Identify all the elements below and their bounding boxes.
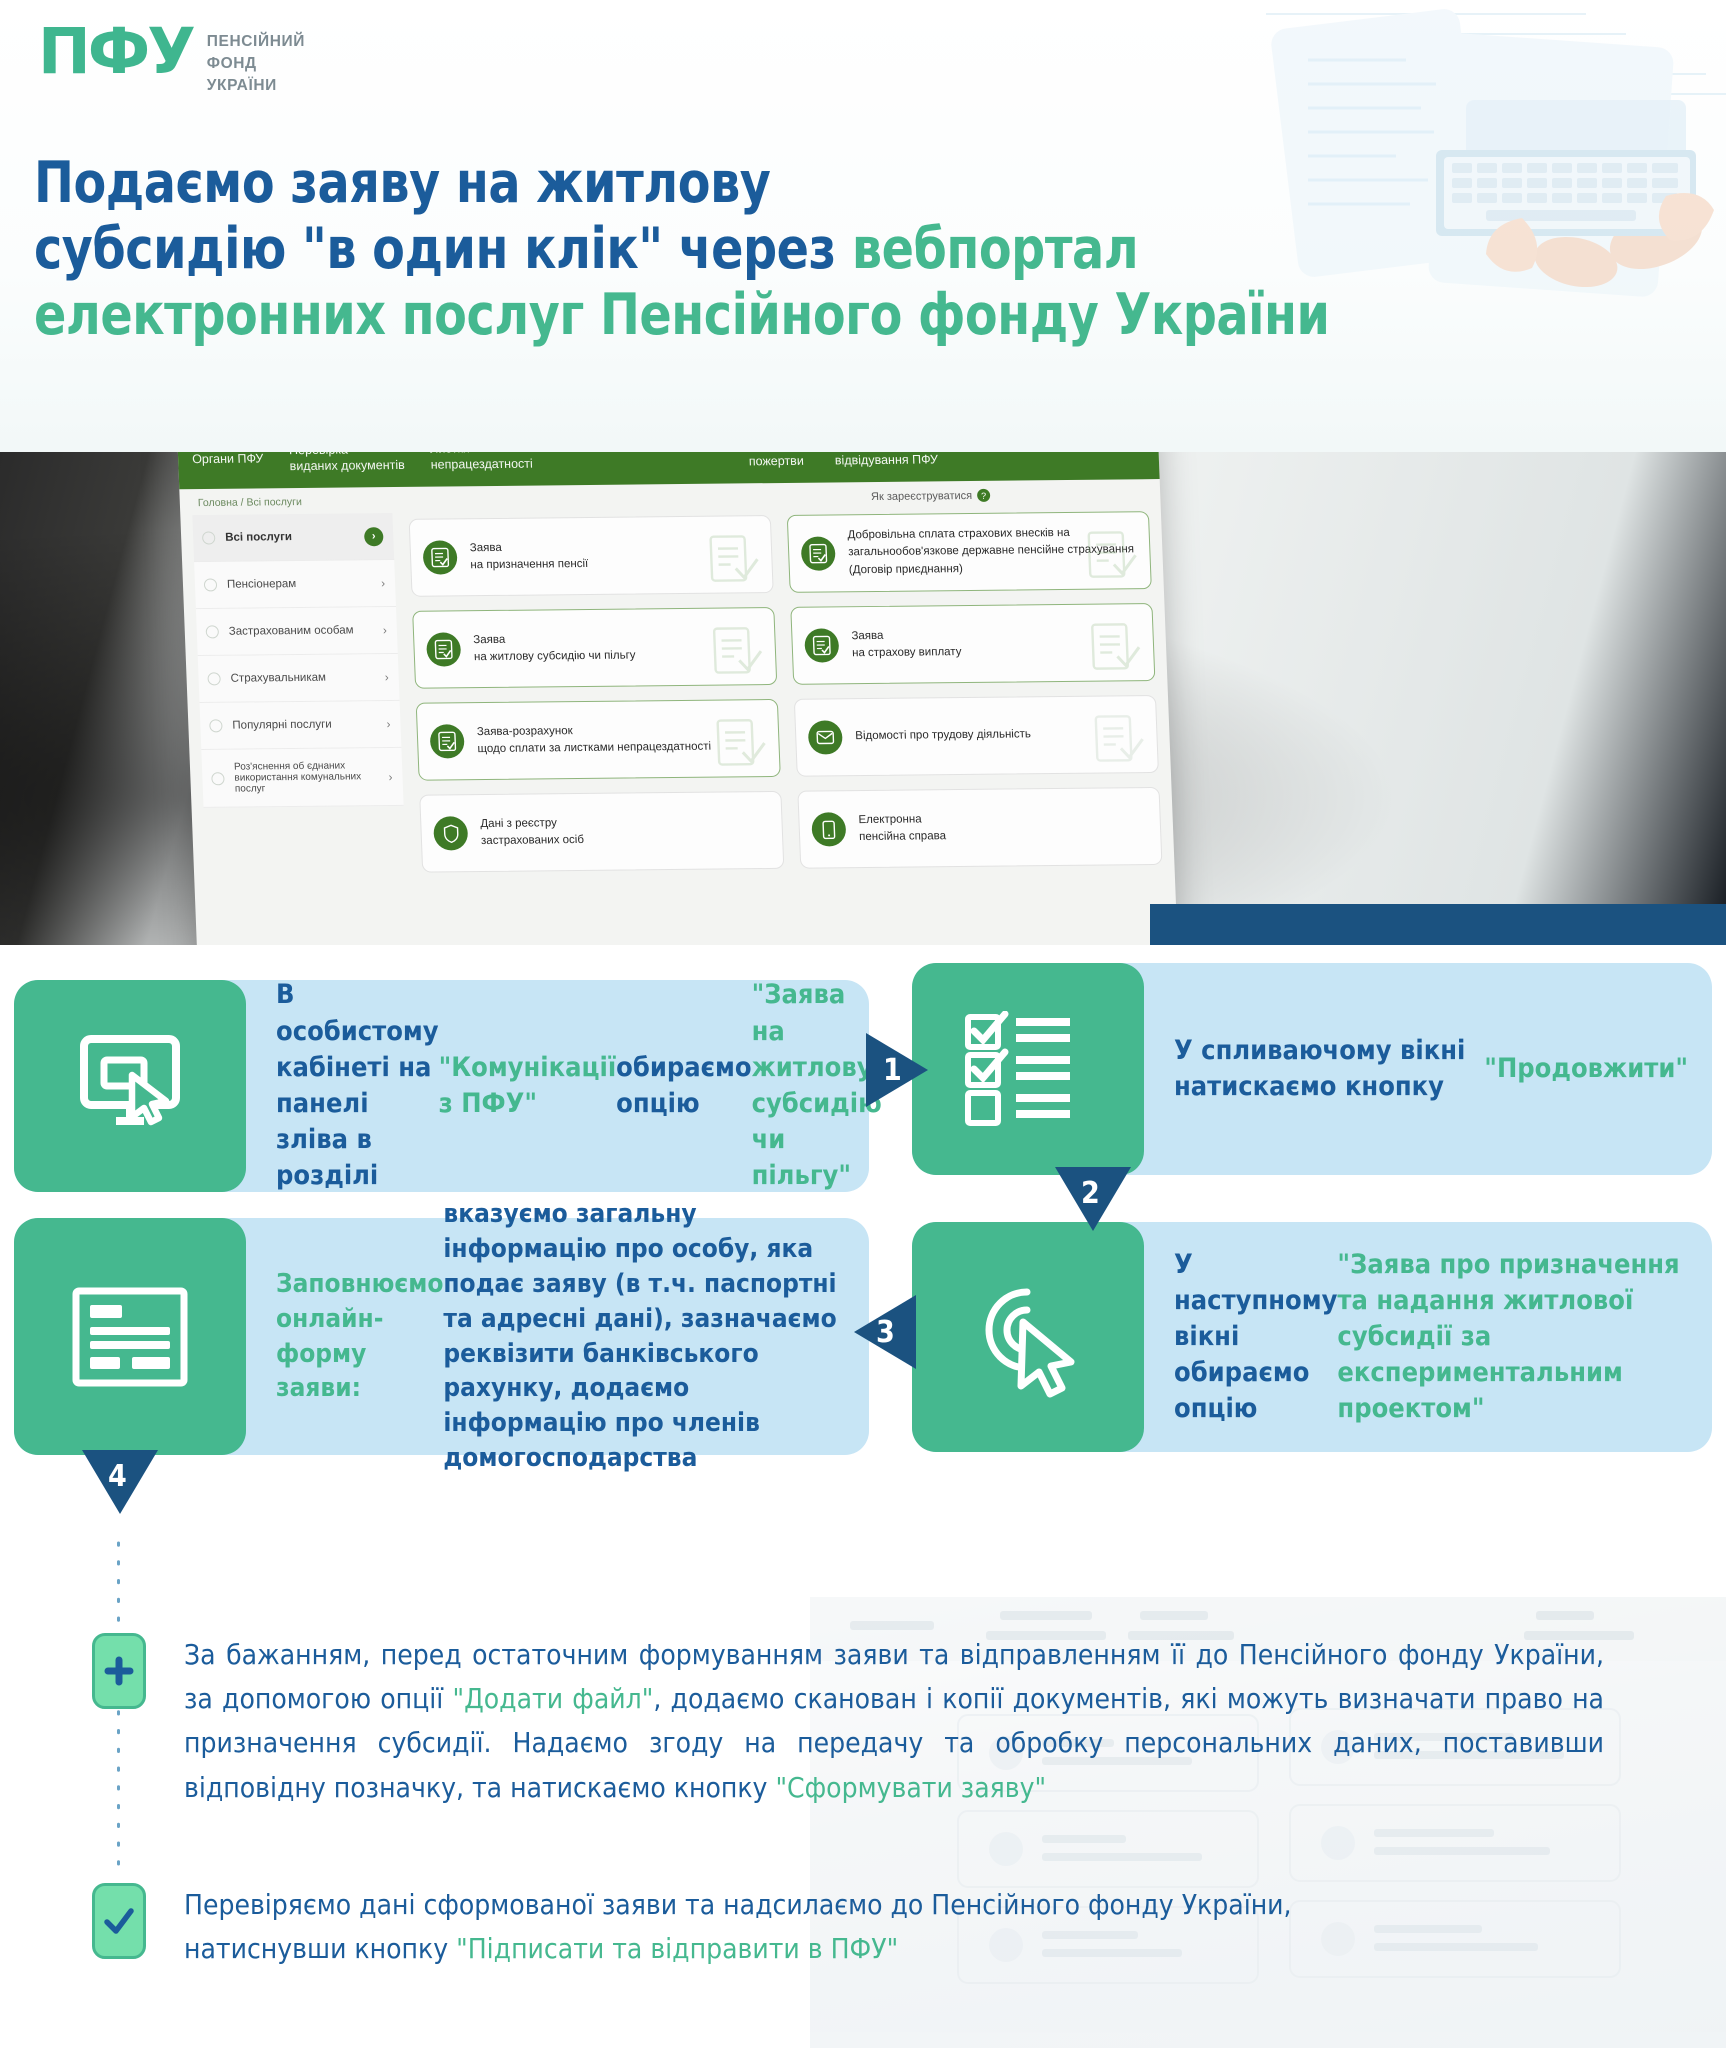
bullet-icon bbox=[211, 772, 225, 785]
service-card-label-3: Заява на страхову виплату bbox=[851, 627, 962, 663]
text-run-1: "Заява про призначення та надання житлов… bbox=[1337, 1247, 1688, 1428]
title-line-2-blue: субсидію "в один клік" через bbox=[34, 216, 852, 282]
monitor-cursor-icon bbox=[70, 1027, 190, 1145]
bullet-icon bbox=[206, 625, 220, 638]
topnav-item-3[interactable]: Благодійні пожертви bbox=[748, 452, 809, 470]
intro-steps-panel: Заходимо на вебпортал електронних послуг… bbox=[1150, 904, 1726, 945]
text-run-1: "Продовжити" bbox=[1484, 1051, 1688, 1087]
service-card-label-6: Дані з реєстру застрахованих осіб bbox=[480, 815, 584, 851]
chevron-right-icon: › bbox=[381, 576, 386, 590]
bullet-icon bbox=[204, 578, 218, 591]
step-1-text: В особистому кабінеті на панелі зліва в … bbox=[246, 980, 906, 1192]
document-check-icon bbox=[426, 632, 461, 666]
sidebar-item-0[interactable]: Всі послуги › bbox=[192, 513, 394, 562]
step-4-text: Заповнюємо онлайн-форму заяви: вказуємо … bbox=[246, 1218, 869, 1455]
logo-line-1: ПЕНСІЙНИЙ bbox=[207, 31, 305, 53]
service-card-5[interactable]: Відомості про трудову діяльність bbox=[794, 695, 1159, 777]
click-cursor-icon bbox=[965, 1274, 1091, 1400]
service-card-1[interactable]: Добровільна сплата страхових внесків на … bbox=[787, 511, 1152, 593]
final-step-1: За бажанням, перед остаточним формування… bbox=[92, 1633, 1622, 1810]
service-card-label-4: Заява-розрахунок щодо сплати за листками… bbox=[477, 721, 712, 758]
text-run-0: У наступному вікні обираємо опцію bbox=[1174, 1247, 1337, 1428]
sidebar-item-5[interactable]: Роз'яснення об єднаних використання кому… bbox=[201, 748, 403, 808]
document-ghost-icon bbox=[1082, 526, 1142, 585]
how-to-register-link[interactable]: Як зареєструватися ? bbox=[871, 489, 991, 503]
sidebar-item-2[interactable]: Застрахованим особам › bbox=[196, 607, 398, 656]
sidebar-item-4[interactable]: Популярні послуги › bbox=[200, 701, 402, 750]
document-ghost-icon bbox=[1086, 618, 1146, 677]
mobile-phone-icon bbox=[811, 812, 846, 846]
document-ghost-icon bbox=[708, 622, 768, 681]
svg-text:3: 3 bbox=[876, 1315, 895, 1350]
title-line-3: електронних послуг Пенсійного фонду Укра… bbox=[34, 282, 1522, 348]
document-ghost-icon bbox=[711, 714, 771, 773]
service-card-label-0: Заява на призначення пенсії bbox=[469, 539, 588, 575]
final-step-1-text: За бажанням, перед остаточним формування… bbox=[184, 1633, 1604, 1810]
step-card-1: В особистому кабінеті на панелі зліва в … bbox=[14, 980, 869, 1192]
step-card-2: У спливаючому вікні натискаємо кнопку "П… bbox=[912, 963, 1712, 1175]
sidebar-label-3: Страхувальникам bbox=[230, 672, 326, 685]
topnav-item-4[interactable]: Оцінка відвідування ПФУ bbox=[834, 452, 938, 469]
chevron-right-icon: › bbox=[386, 717, 391, 731]
pfu-logo: ПФУ ПЕНСІЙНИЙ ФОНД УКРАЇНИ bbox=[38, 22, 305, 97]
plus-icon bbox=[92, 1633, 146, 1709]
service-card-label-7: Електронна пенсійна справа bbox=[858, 811, 946, 846]
check-icon bbox=[92, 1883, 146, 1959]
portal-sidebar: Всі послуги › Пенсіонерам › Застраховани… bbox=[192, 513, 403, 808]
title-line-2-green: вебпортал bbox=[852, 216, 1138, 282]
chevron-right-icon: › bbox=[388, 769, 393, 783]
text-run-3: "Заява на житлову субсидію чи пільгу" bbox=[752, 977, 882, 1194]
topnav-item-0[interactable]: Органи ПФУ bbox=[192, 452, 264, 468]
sidebar-label-4: Популярні послуги bbox=[232, 719, 332, 732]
page-title: Подаємо заяву на житлову субсидію "в оди… bbox=[34, 150, 1634, 348]
svg-text:1: 1 bbox=[883, 1053, 902, 1088]
portal-topnav: Органи ПФУ Перевірка виданих документів … bbox=[177, 452, 1160, 489]
step-2-icon-box bbox=[912, 963, 1144, 1175]
step-4-icon-box bbox=[14, 1218, 246, 1455]
step-card-4: Заповнюємо онлайн-форму заяви: вказуємо … bbox=[14, 1218, 869, 1455]
portal-screenshot: Органи ПФУ Перевірка виданих документів … bbox=[177, 452, 1179, 945]
service-card-label-2: Заява на житлову субсидію чи пільгу bbox=[473, 630, 636, 666]
text-run-2: обираємо опцію bbox=[616, 1050, 751, 1122]
text-run-0: В особистому кабінеті на панелі зліва в … bbox=[276, 977, 439, 1194]
document-check-icon bbox=[804, 628, 839, 662]
sidebar-item-1[interactable]: Пенсіонерам › bbox=[194, 560, 396, 609]
sidebar-label-0: Всі послуги bbox=[225, 531, 292, 544]
topnav-item-1[interactable]: Перевірка виданих документів bbox=[289, 452, 405, 475]
service-card-6[interactable]: Дані з реєстру застрахованих осіб bbox=[419, 791, 784, 873]
title-line-1: Подаємо заяву на житлову bbox=[34, 150, 1522, 216]
step-1-icon-box bbox=[14, 980, 246, 1192]
sidebar-label-5: Роз'яснення об єднаних використання кому… bbox=[234, 760, 362, 794]
text-run-3: "Сформувати заяву" bbox=[775, 1771, 1046, 1804]
service-card-4[interactable]: Заява-розрахунок щодо сплати за листками… bbox=[416, 699, 781, 781]
logo-mark: ПФУ bbox=[38, 22, 193, 82]
document-check-icon bbox=[422, 540, 457, 574]
document-check-icon bbox=[430, 724, 465, 758]
service-card-0[interactable]: Заява на призначення пенсії bbox=[409, 515, 774, 597]
sidebar-label-1: Пенсіонерам bbox=[227, 578, 297, 591]
service-card-grid: Заява на призначення пенсії Добровільна … bbox=[409, 511, 1163, 872]
service-card-label-5: Відомості про трудову діяльність bbox=[855, 727, 1031, 746]
document-check-icon bbox=[801, 536, 836, 570]
svg-text:4: 4 bbox=[108, 1459, 127, 1494]
breadcrumb: Головна / Всі послуги bbox=[198, 496, 302, 509]
checklist-icon bbox=[958, 1011, 1098, 1127]
text-run-1: вказуємо загальну інформацію про особу, … bbox=[443, 1197, 845, 1476]
topnav-item-2[interactable]: Листки непрацездатності bbox=[430, 452, 533, 473]
sidebar-item-3[interactable]: Страхувальникам › bbox=[198, 654, 400, 703]
document-ghost-icon bbox=[1089, 710, 1149, 769]
text-run-0: Заповнюємо онлайн-форму заяви: bbox=[276, 1267, 443, 1406]
service-card-7[interactable]: Електронна пенсійна справа bbox=[797, 787, 1162, 869]
page-header: ПФУ ПЕНСІЙНИЙ ФОНД УКРАЇНИ Подаємо заяву… bbox=[0, 0, 1726, 452]
help-label: Як зареєструватися bbox=[871, 489, 973, 502]
shield-icon bbox=[433, 816, 468, 850]
step-card-3: У наступному вікні обираємо опцію "Заява… bbox=[912, 1222, 1712, 1452]
service-card-2[interactable]: Заява на житлову субсидію чи пільгу bbox=[412, 607, 777, 689]
service-card-3[interactable]: Заява на страхову виплату bbox=[790, 603, 1155, 685]
form-document-icon bbox=[68, 1285, 192, 1389]
algorithm-steps: В особистому кабінеті на панелі зліва в … bbox=[0, 945, 1726, 1505]
text-run-1: "Додати файл" bbox=[453, 1682, 654, 1715]
step-2-text: У спливаючому вікні натискаємо кнопку "П… bbox=[1144, 963, 1712, 1175]
final-step-2-text: Перевіряємо дані сформованої заяви та на… bbox=[184, 1883, 1292, 1971]
chevron-right-icon: › bbox=[364, 527, 384, 546]
chevron-right-icon: › bbox=[383, 623, 388, 637]
svg-text:2: 2 bbox=[1081, 1176, 1100, 1211]
logo-line-3: УКРАЇНИ bbox=[207, 75, 305, 97]
bullet-icon bbox=[207, 672, 221, 685]
logo-wordmark: ПЕНСІЙНИЙ ФОНД УКРАЇНИ bbox=[207, 31, 305, 97]
envelope-icon bbox=[808, 720, 843, 754]
hero-photo-band: Органи ПФУ Перевірка виданих документів … bbox=[0, 452, 1726, 945]
step-3-text: У наступному вікні обираємо опцію "Заява… bbox=[1144, 1222, 1712, 1452]
final-steps-section: За бажанням, перед остаточним формування… bbox=[0, 1505, 1726, 2048]
step-3-icon-box bbox=[912, 1222, 1144, 1452]
question-mark-icon: ? bbox=[977, 489, 991, 502]
chevron-right-icon: › bbox=[384, 670, 389, 684]
bullet-icon bbox=[202, 531, 216, 544]
text-run-0: У спливаючому вікні натискаємо кнопку bbox=[1174, 1033, 1484, 1105]
bullet-icon bbox=[209, 719, 223, 732]
sidebar-label-2: Застрахованим особам bbox=[229, 624, 354, 637]
text-run-1: "Підписати та відправити в ПФУ" bbox=[456, 1932, 898, 1965]
logo-line-2: ФОНД bbox=[207, 53, 305, 75]
title-line-2: субсидію "в один клік" через вебпортал bbox=[34, 216, 1522, 282]
text-run-1: "Комунікації з ПФУ" bbox=[439, 1050, 617, 1122]
document-ghost-icon bbox=[704, 530, 764, 589]
final-step-2: Перевіряємо дані сформованої заяви та на… bbox=[92, 1883, 1292, 1971]
